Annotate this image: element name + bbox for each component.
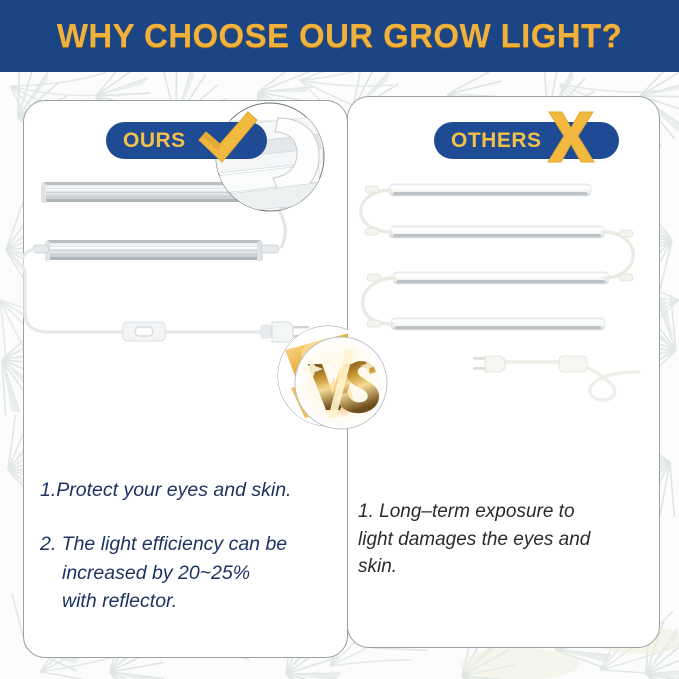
plain-tube-3 xyxy=(393,272,609,284)
page-title: WHY CHOOSE OUR GROW LIGHT? xyxy=(57,17,622,55)
list-item: 2. The light efficiency can be increased… xyxy=(40,530,330,615)
link-cables xyxy=(361,190,633,324)
vs-flame-badge xyxy=(290,332,392,434)
power-cable xyxy=(23,249,263,332)
badge-others-label: OTHERS xyxy=(451,129,542,153)
check-icon xyxy=(196,110,260,166)
list-item: 1.Protect your eyes and skin. xyxy=(40,476,330,504)
list-item-line: light damages the eyes and xyxy=(358,526,646,554)
inline-rocker-switch xyxy=(123,322,165,341)
plain-tube-1 xyxy=(389,184,591,196)
list-item-line: with reflector. xyxy=(40,587,330,615)
infographic-canvas: WHY CHOOSE OUR GROW LIGHT? xyxy=(0,0,679,679)
reflector-tube-upper xyxy=(41,182,245,203)
list-item-line: increased by 20~25% xyxy=(40,559,330,587)
header-banner: WHY CHOOSE OUR GROW LIGHT? xyxy=(0,0,679,72)
list-item-line: skin. xyxy=(358,553,646,581)
badge-ours-label: OURS xyxy=(123,129,186,153)
list-item-line: 2. The light efficiency can be xyxy=(40,533,287,555)
power-cord-with-plug xyxy=(473,356,639,400)
x-icon xyxy=(545,110,597,164)
list-item: 1. Long–term exposure to light damages t… xyxy=(358,498,646,581)
list-item-line: 1. Long–term exposure to xyxy=(358,501,575,522)
ours-benefits-list: 1.Protect your eyes and skin. 2. The lig… xyxy=(40,476,330,615)
plain-tube-4 xyxy=(391,318,605,330)
cable-end-caps xyxy=(365,186,633,327)
reflector-tube-lower xyxy=(45,240,263,261)
others-product-illustration xyxy=(347,150,660,440)
plain-tube-2 xyxy=(389,226,605,238)
others-drawbacks-list: 1. Long–term exposure to light damages t… xyxy=(358,498,646,581)
